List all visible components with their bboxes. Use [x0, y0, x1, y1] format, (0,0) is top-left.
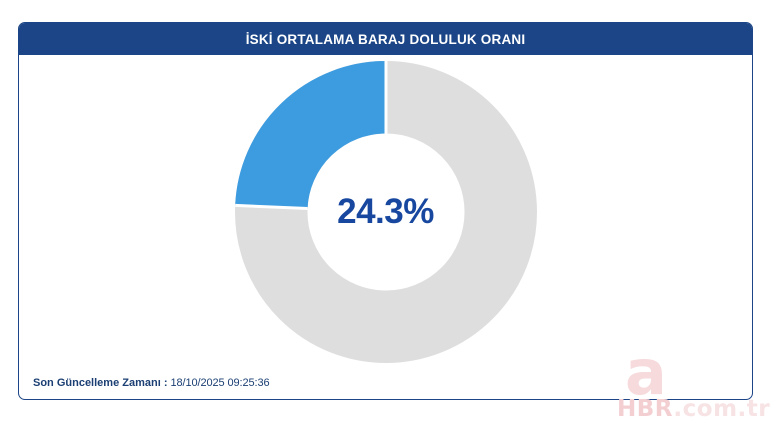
card-footer: Son Güncelleme Zamanı : 18/10/2025 09:25… — [19, 367, 752, 399]
card-header: İSKİ ORTALAMA BARAJ DOLULUK ORANI — [19, 23, 752, 55]
dam-occupancy-widget-card: İSKİ ORTALAMA BARAJ DOLULUK ORANI 24.3% … — [18, 22, 753, 400]
dam-occupancy-donut-chart — [235, 61, 537, 363]
page-title: İSKİ ORTALAMA BARAJ DOLULUK ORANI — [246, 32, 526, 47]
chart-body: 24.3% — [19, 55, 752, 368]
last-update-value: 18/10/2025 09:25:36 — [170, 377, 269, 389]
last-update-label: Son Güncelleme Zamanı : — [33, 377, 167, 389]
